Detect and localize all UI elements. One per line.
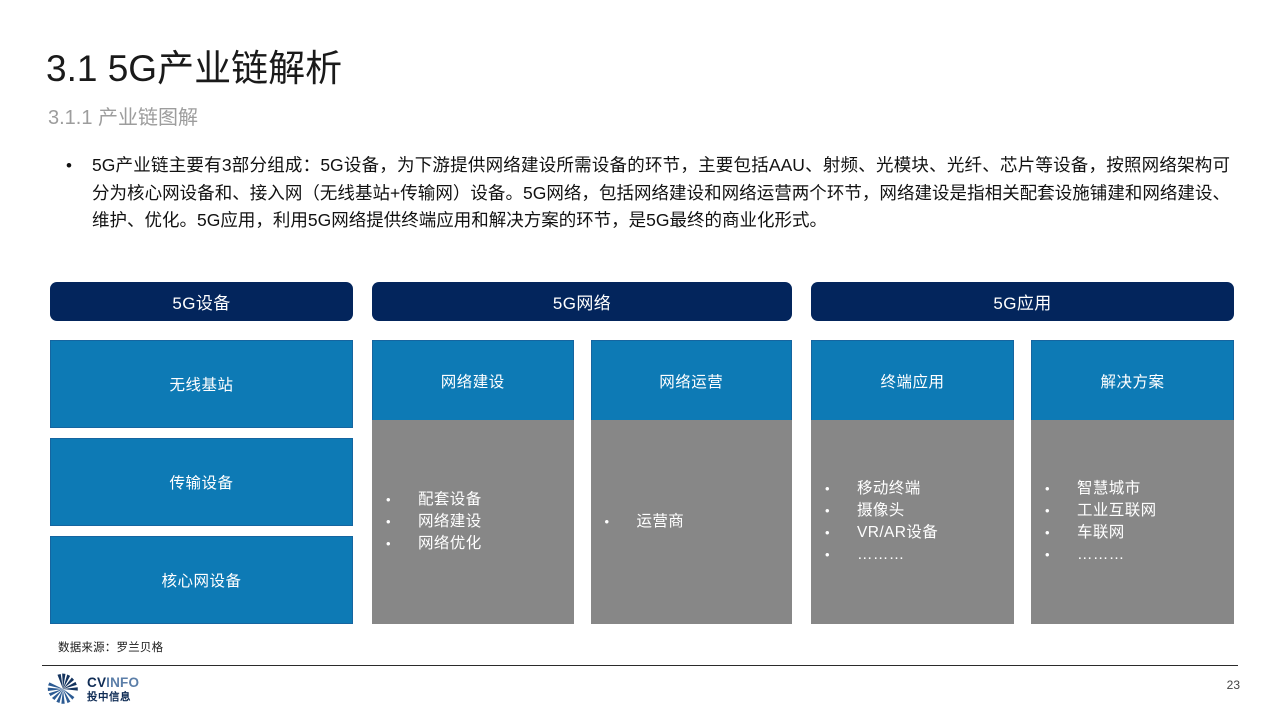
list-item-label: 摄像头 [857,500,1014,522]
diagram-segment-network: 5G网络 网络建设 • 配套设备 • 网络建设 • 网络优化 [372,282,792,624]
network-column-construction: 网络建设 • 配套设备 • 网络建设 • 网络优化 [372,340,574,624]
column-list-network-construction: • 配套设备 • 网络建设 • 网络优化 [372,420,574,624]
list-item: • VR/AR设备 [825,522,1014,544]
body-paragraph: • 5G产业链主要有3部分组成：5G设备，为下游提供网络建设所需设备的环节，主要… [62,152,1230,235]
list-item-label: 网络建设 [418,511,574,533]
equipment-box-core-network-equipment[interactable]: 核心网设备 [50,536,353,624]
equipment-box-stack: 无线基站 传输设备 核心网设备 [50,340,353,624]
bullet-dot-icon: • [386,489,418,511]
page-subtitle: 3.1.1 产业链图解 [48,105,198,131]
list-item: • 工业互联网 [1045,500,1234,522]
segment-body-application: 终端应用 • 移动终端 • 摄像头 • VR/AR设备 • [811,340,1234,624]
bullet-dot-icon: • [386,533,418,555]
brand-logo: CVINFO 投中信息 [46,672,139,706]
column-list-network-operations: • 运营商 [591,420,793,624]
list-item: • ……… [1045,544,1234,566]
list-item-label: ……… [857,544,1014,566]
segment-body-network: 网络建设 • 配套设备 • 网络建设 • 网络优化 [372,340,792,624]
logo-brand-cv: CV [87,675,106,690]
column-cap-network-construction[interactable]: 网络建设 [372,340,574,420]
list-item-label: 网络优化 [418,533,574,555]
column-cap-network-operations[interactable]: 网络运营 [591,340,793,420]
diagram-segment-equipment: 5G设备 无线基站 传输设备 核心网设备 [50,282,353,624]
equipment-box-wireless-base-station[interactable]: 无线基站 [50,340,353,428]
column-list-terminal-application: • 移动终端 • 摄像头 • VR/AR设备 • ……… [811,420,1014,624]
logo-wordmark: CVINFO 投中信息 [87,676,139,703]
starburst-logo-icon [46,672,80,706]
equipment-box-transmission-equipment[interactable]: 传输设备 [50,438,353,526]
list-item: • 移动终端 [825,478,1014,500]
segment-header-equipment: 5G设备 [50,282,353,321]
footer-divider [42,665,1238,666]
list-item: • 智慧城市 [1045,478,1234,500]
list-item: • 车联网 [1045,522,1234,544]
value-chain-diagram: 5G设备 无线基站 传输设备 核心网设备 5G网络 网络建设 • 配套设备 • [50,282,1234,624]
list-item: • 网络优化 [386,533,574,555]
bullet-dot-icon: • [825,500,857,522]
logo-brand-info: INFO [106,675,139,690]
body-bullet-icon: • [62,152,92,179]
diagram-segment-application: 5G应用 终端应用 • 移动终端 • 摄像头 • VR/AR设备 [811,282,1234,624]
column-list-solutions: • 智慧城市 • 工业互联网 • 车联网 • ……… [1031,420,1234,624]
bullet-dot-icon: • [1045,544,1077,566]
application-column-solutions: 解决方案 • 智慧城市 • 工业互联网 • 车联网 • [1031,340,1234,624]
source-note: 数据来源：罗兰贝格 [58,639,163,655]
bullet-dot-icon: • [605,511,637,533]
list-item-label: 运营商 [637,511,793,533]
logo-brand-en: CVINFO [87,676,139,690]
segment-header-network: 5G网络 [372,282,792,321]
segment-header-application: 5G应用 [811,282,1234,321]
list-item: • 配套设备 [386,489,574,511]
bullet-dot-icon: • [1045,500,1077,522]
list-item-label: 配套设备 [418,489,574,511]
bullet-dot-icon: • [825,478,857,500]
bullet-dot-icon: • [825,544,857,566]
column-cap-solutions[interactable]: 解决方案 [1031,340,1234,420]
bullet-dot-icon: • [386,511,418,533]
list-item-label: 移动终端 [857,478,1014,500]
list-item-label: 车联网 [1077,522,1234,544]
list-item-label: 智慧城市 [1077,478,1234,500]
segment-body-equipment: 无线基站 传输设备 核心网设备 [50,340,353,624]
network-column-operations: 网络运营 • 运营商 [591,340,793,624]
list-item: • 网络建设 [386,511,574,533]
list-item-label: 工业互联网 [1077,500,1234,522]
bullet-dot-icon: • [1045,478,1077,500]
logo-brand-cn: 投中信息 [87,692,139,703]
bullet-dot-icon: • [1045,522,1077,544]
page-number: 23 [1227,678,1240,692]
bullet-dot-icon: • [825,522,857,544]
list-item: • ……… [825,544,1014,566]
page-title: 3.1 5G产业链解析 [46,46,342,92]
column-cap-terminal-application[interactable]: 终端应用 [811,340,1014,420]
body-paragraph-text: 5G产业链主要有3部分组成：5G设备，为下游提供网络建设所需设备的环节，主要包括… [92,152,1230,235]
list-item-label: ……… [1077,544,1234,566]
application-column-terminal: 终端应用 • 移动终端 • 摄像头 • VR/AR设备 • [811,340,1014,624]
list-item: • 摄像头 [825,500,1014,522]
list-item: • 运营商 [605,511,793,533]
list-item-label: VR/AR设备 [857,522,1014,544]
